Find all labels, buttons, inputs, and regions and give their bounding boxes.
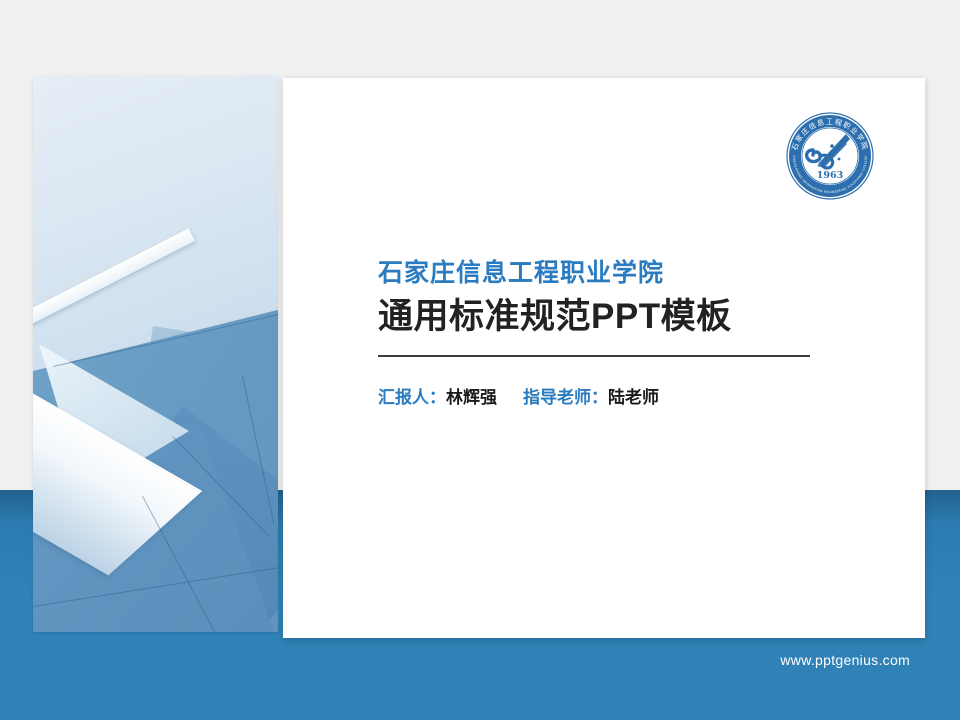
cover-photo [33, 76, 278, 632]
title-divider [378, 355, 810, 357]
advisor-label: 指导老师： [523, 388, 608, 407]
title-block: 石家庄信息工程职业学院 通用标准规范PPT模板 汇报人：林辉强指导老师：陆老师 [378, 258, 878, 408]
content-card: 石家庄信息工程职业学院 SHIJIAZHUANG INFORMATION ENG… [283, 78, 925, 638]
reporter-label: 汇报人： [378, 388, 446, 407]
slide-main-title: 通用标准规范PPT模板 [378, 297, 878, 337]
presenter-row: 汇报人：林辉强指导老师：陆老师 [378, 383, 878, 408]
university-logo: 石家庄信息工程职业学院 SHIJIAZHUANG INFORMATION ENG… [780, 106, 880, 206]
footer-url[interactable]: www.pptgenius.com [780, 652, 910, 668]
logo-year: 1963 [817, 170, 843, 181]
presentation-slide: 石家庄信息工程职业学院 SHIJIAZHUANG INFORMATION ENG… [0, 0, 960, 720]
institution-name: 石家庄信息工程职业学院 [378, 258, 878, 288]
advisor-name: 陆老师 [608, 388, 659, 407]
reporter-name: 林辉强 [446, 388, 497, 407]
